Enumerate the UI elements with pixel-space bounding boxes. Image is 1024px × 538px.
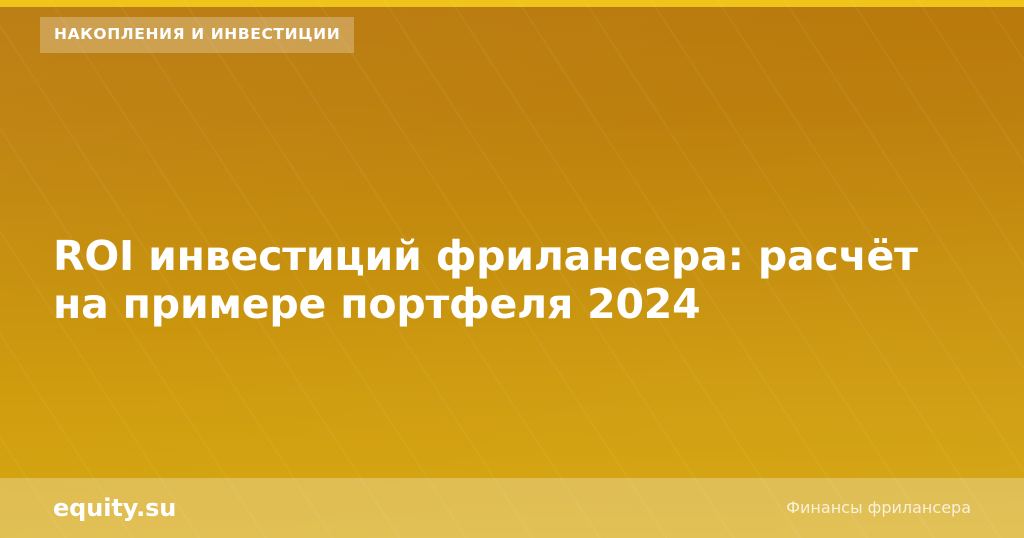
site-tagline: Финансы фрилансера	[786, 500, 971, 516]
site-brand[interactable]: equity.su	[53, 496, 176, 520]
category-badge[interactable]: НАКОПЛЕНИЯ И ИНВЕСТИЦИИ	[40, 17, 354, 53]
category-badge-label: НАКОПЛЕНИЯ И ИНВЕСТИЦИИ	[54, 27, 340, 43]
card-footer: equity.su Финансы фрилансера	[0, 478, 1024, 538]
page-title: ROI инвестиций фрилансера: расчёт на при…	[53, 232, 953, 329]
top-accent-bar	[0, 0, 1024, 7]
social-share-card: НАКОПЛЕНИЯ И ИНВЕСТИЦИИ ROI инвестиций ф…	[0, 0, 1024, 538]
